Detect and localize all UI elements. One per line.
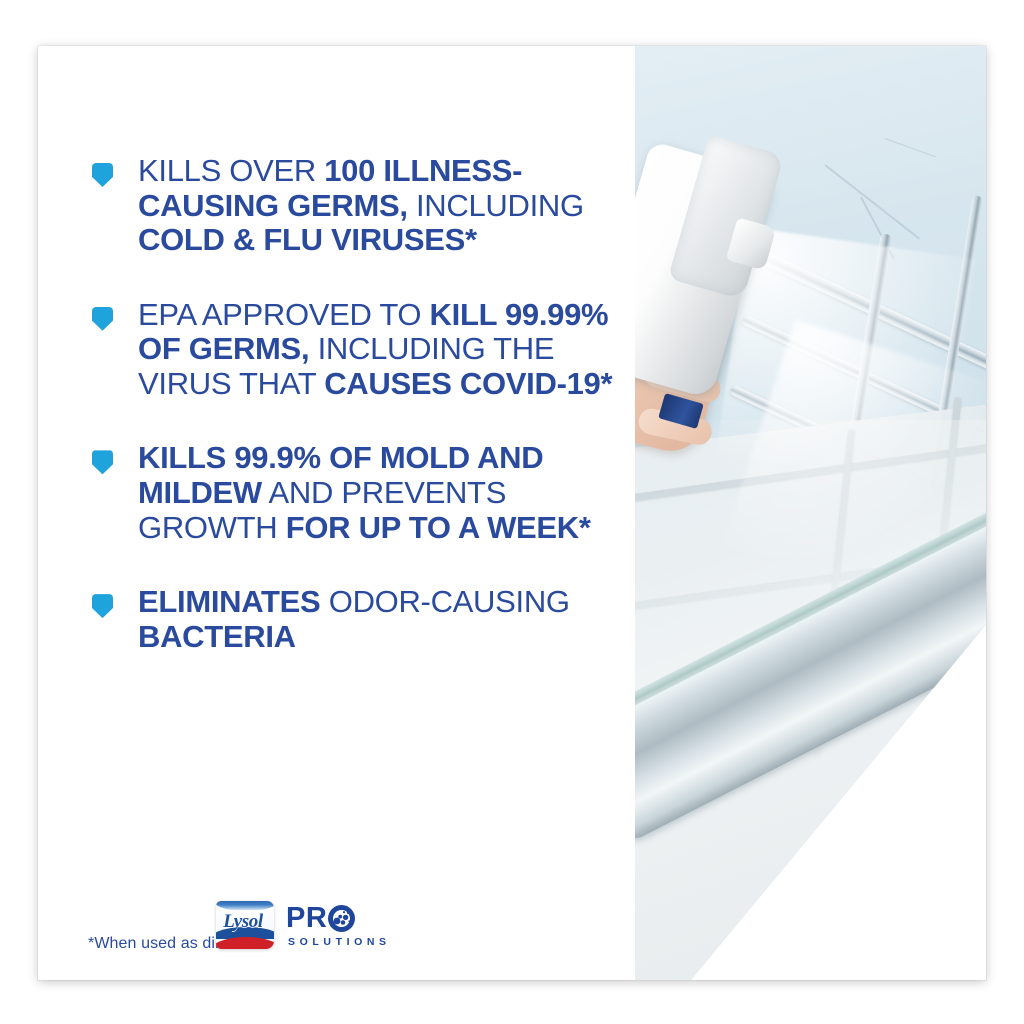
- shield-icon: [92, 163, 113, 187]
- feature-bullet: ELIMINATES ODOR-CAUSING BACTERIA: [85, 585, 625, 654]
- pro-o-bubble-icon: [328, 905, 355, 932]
- feature-bullet-text: EPA APPROVED TO KILL 99.99% OF GERMS, IN…: [138, 298, 625, 402]
- feature-bullet-text: KILLS 99.9% OF MOLD AND MILDEW AND PREVE…: [138, 441, 625, 545]
- product-feature-card: Lysol PR: [38, 46, 986, 980]
- feature-bullet: KILLS 99.9% OF MOLD AND MILDEW AND PREVE…: [85, 441, 625, 545]
- lysol-badge-red-arc: [216, 937, 274, 949]
- shield-icon: [92, 307, 113, 331]
- pro-wordmark-row: PR: [286, 904, 391, 933]
- lysol-badge: Lysol: [214, 899, 276, 951]
- feature-list-panel: KILLS OVER 100 ILLNESS-CAUSING GERMS, IN…: [38, 46, 635, 980]
- lysol-wordmark: Lysol: [214, 911, 272, 933]
- poster-canvas: Lysol PR: [0, 0, 1024, 1024]
- shield-icon: [92, 450, 113, 474]
- product-photo: [635, 46, 986, 980]
- lysol-pro-solutions-logo: Lysol PR: [214, 894, 376, 956]
- pro-wordmark: PR: [286, 904, 327, 933]
- feature-bullet-list: KILLS OVER 100 ILLNESS-CAUSING GERMS, IN…: [85, 154, 625, 654]
- feature-bullet-text: ELIMINATES ODOR-CAUSING BACTERIA: [138, 585, 625, 654]
- lysol-badge-blue-top: [216, 901, 274, 910]
- feature-bullet-text: KILLS OVER 100 ILLNESS-CAUSING GERMS, IN…: [138, 154, 625, 258]
- pro-solutions-lockup: PR SOLUTIONS: [286, 902, 391, 948]
- shield-icon: [92, 594, 113, 618]
- sparkle-bubbles-icon: [332, 909, 351, 928]
- feature-bullet: EPA APPROVED TO KILL 99.99% OF GERMS, IN…: [85, 298, 625, 402]
- solutions-wordmark: SOLUTIONS: [286, 936, 391, 948]
- feature-bullet: KILLS OVER 100 ILLNESS-CAUSING GERMS, IN…: [85, 154, 625, 258]
